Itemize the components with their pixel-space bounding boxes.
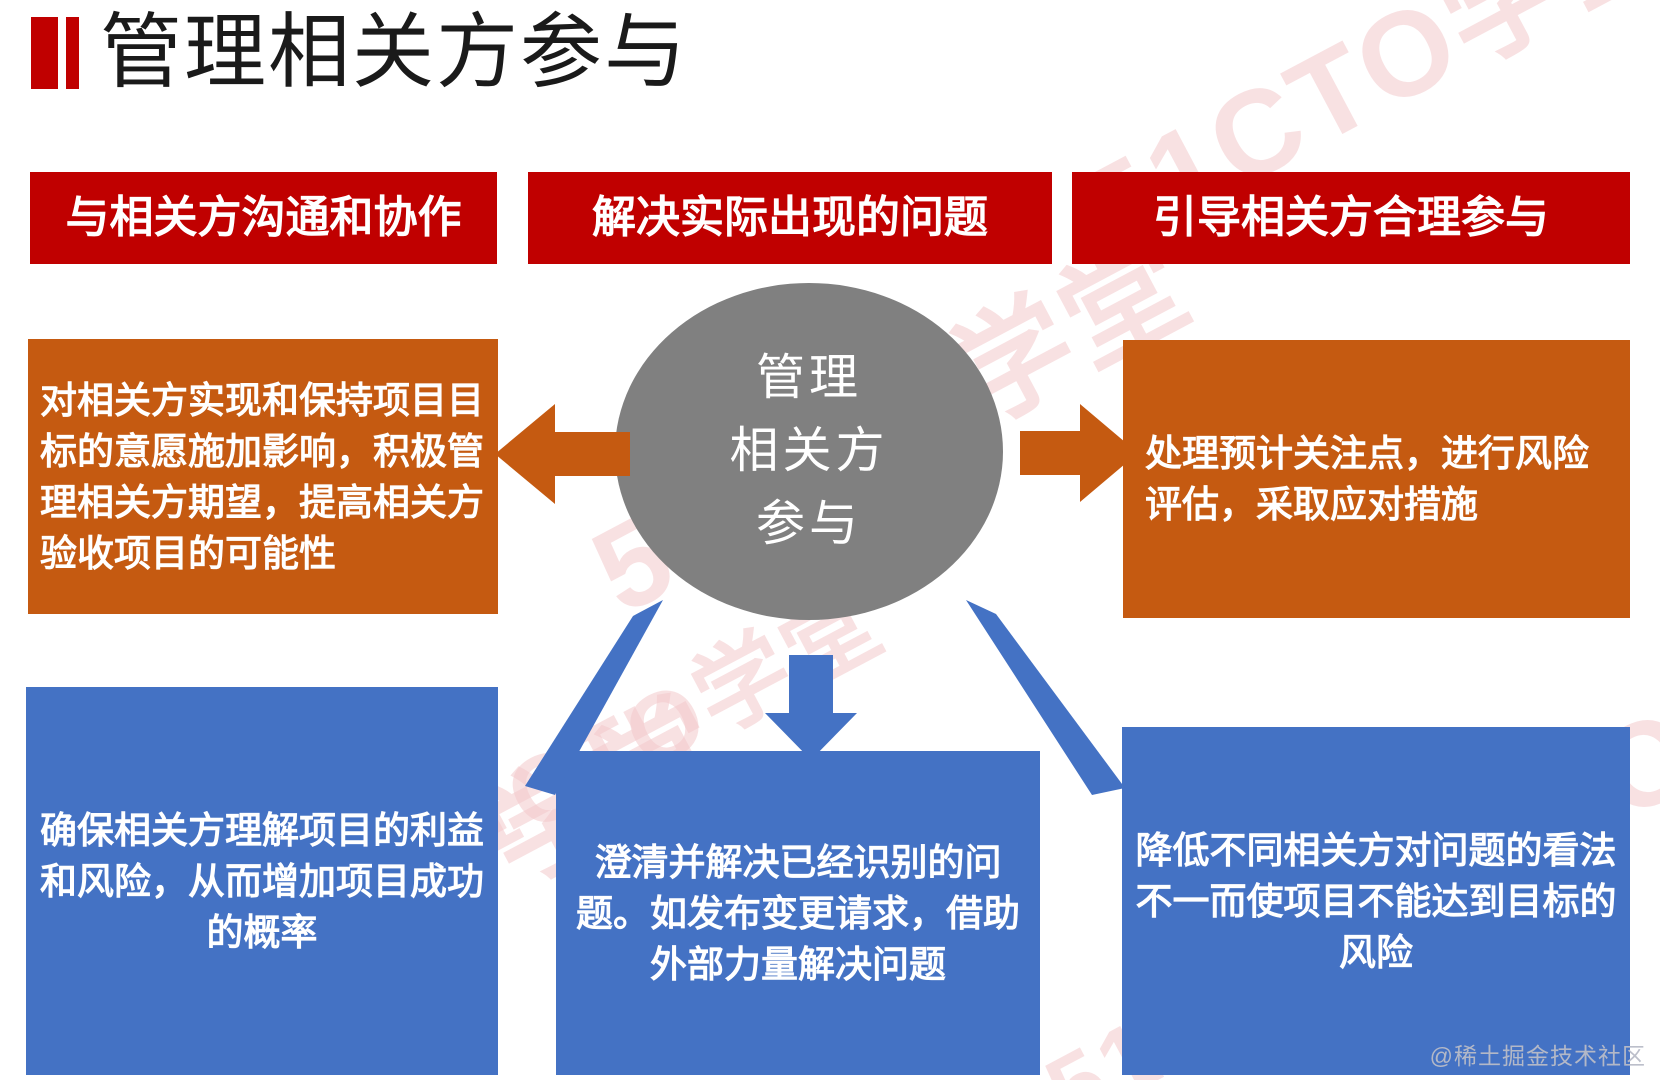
detail-box-text: 确保相关方理解项目的利益和风险，从而增加项目成功的概率 — [26, 805, 498, 958]
arrow-down-icon — [763, 655, 859, 760]
top-banner-resolve-issues: 解决实际出现的问题 — [528, 172, 1052, 264]
center-circle-label: 管理 相关方 参与 — [729, 342, 888, 561]
detail-box-blue-right: 降低不同相关方对问题的看法不一而使项目不能达到目标的风险 — [1122, 727, 1630, 1075]
detail-box-text: 处理预计关注点，进行风险评估，采取应对措施 — [1123, 428, 1630, 530]
arrow-left-icon — [495, 398, 630, 510]
top-banner-label: 与相关方沟通和协作 — [30, 193, 497, 243]
accent-bar-wide-icon — [31, 17, 58, 89]
top-banner-guide-engagement: 引导相关方合理参与 — [1072, 172, 1630, 264]
top-banner-communicate: 与相关方沟通和协作 — [30, 172, 497, 264]
top-banner-label: 解决实际出现的问题 — [528, 193, 1052, 243]
arrow-right-icon — [1020, 400, 1138, 506]
accent-bar-thin-icon — [66, 17, 79, 89]
slide-canvas: 51CTO学堂 51CTO学堂 51CTO学堂 51CTO学堂 51CTO学堂 … — [0, 0, 1660, 1080]
center-line: 相关方 — [729, 415, 888, 488]
detail-box-blue-left: 确保相关方理解项目的利益和风险，从而增加项目成功的概率 — [26, 687, 498, 1075]
detail-box-orange-left: 对相关方实现和保持项目目标的意愿施加影响，积极管理相关方期望，提高相关方验收项目… — [28, 339, 498, 614]
detail-box-text: 澄清并解决已经识别的问题。如发布变更请求，借助外部力量解决问题 — [556, 837, 1040, 990]
title-row: 管理相关方参与 — [0, 0, 1660, 140]
center-line: 管理 — [729, 342, 888, 415]
center-line: 参与 — [729, 488, 888, 561]
top-banner-label: 引导相关方合理参与 — [1072, 193, 1630, 243]
credit-watermark: @稀土掘金技术社区 — [1430, 1037, 1646, 1071]
detail-box-orange-right: 处理预计关注点，进行风险评估，采取应对措施 — [1123, 340, 1630, 618]
detail-box-text: 对相关方实现和保持项目目标的意愿施加影响，积极管理相关方期望，提高相关方验收项目… — [28, 375, 498, 579]
page-title: 管理相关方参与 — [100, 0, 688, 108]
detail-box-blue-middle: 澄清并解决已经识别的问题。如发布变更请求，借助外部力量解决问题 — [556, 751, 1040, 1075]
detail-box-text: 降低不同相关方对问题的看法不一而使项目不能达到目标的风险 — [1122, 825, 1630, 978]
center-circle-node: 管理 相关方 参与 — [615, 283, 1003, 620]
